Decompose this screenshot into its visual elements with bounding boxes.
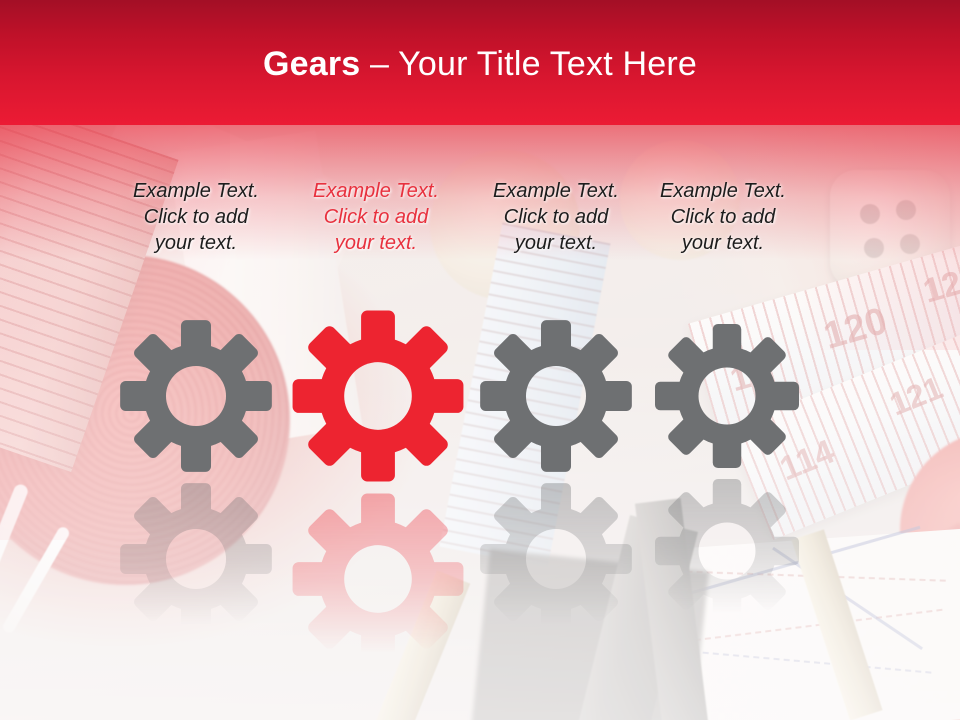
caption-2-line-3: your text. [296,230,456,256]
caption-block-4[interactable]: Example Text. Click to add your text. [643,178,803,256]
page-title: Gears – Your Title Text Here [0,44,960,84]
gear-2-icon [289,307,467,485]
caption-1-line-3: your text. [116,230,276,256]
caption-4-line-2: Click to add [643,204,803,230]
gear-1[interactable] [117,317,275,475]
gear-2[interactable] [289,307,467,485]
gear-3-icon [477,317,635,475]
caption-1-line-1: Example Text. [116,178,276,204]
gear-2-shape [289,307,467,490]
gear-4-icon [652,321,802,471]
caption-2-line-2: Click to add [296,204,456,230]
gear-4-shape [652,321,802,476]
page-title-bold: Gears [263,45,360,83]
page-title-rest: – Your Title Text Here [360,45,697,83]
gear-4-reflection [652,471,802,626]
caption-block-3[interactable]: Example Text. Click to add your text. [476,178,636,256]
caption-3-line-3: your text. [476,230,636,256]
gear-4[interactable] [652,321,802,471]
caption-3-line-1: Example Text. [476,178,636,204]
gear-3[interactable] [477,317,635,475]
gear-1-shape [117,317,275,480]
caption-block-2[interactable]: Example Text. Click to add your text. [296,178,456,256]
caption-3-line-2: Click to add [476,204,636,230]
gear-3-shape [477,317,635,480]
gear-1-reflection [117,475,275,638]
caption-4-line-3: your text. [643,230,803,256]
gear-4-reflection-icon [652,476,802,626]
slide-canvas: 8 92 11 13 120 126 114 121 [0,0,960,720]
gear-2-reflection [289,485,467,668]
caption-2-line-1: Example Text. [296,178,456,204]
caption-4-line-1: Example Text. [643,178,803,204]
gear-3-reflection [477,475,635,638]
caption-1-line-2: Click to add [116,204,276,230]
gear-2-reflection-icon [289,490,467,668]
caption-block-1[interactable]: Example Text. Click to add your text. [116,178,276,256]
gear-3-reflection-icon [477,480,635,638]
gear-1-icon [117,317,275,475]
gear-1-reflection-icon [117,480,275,638]
